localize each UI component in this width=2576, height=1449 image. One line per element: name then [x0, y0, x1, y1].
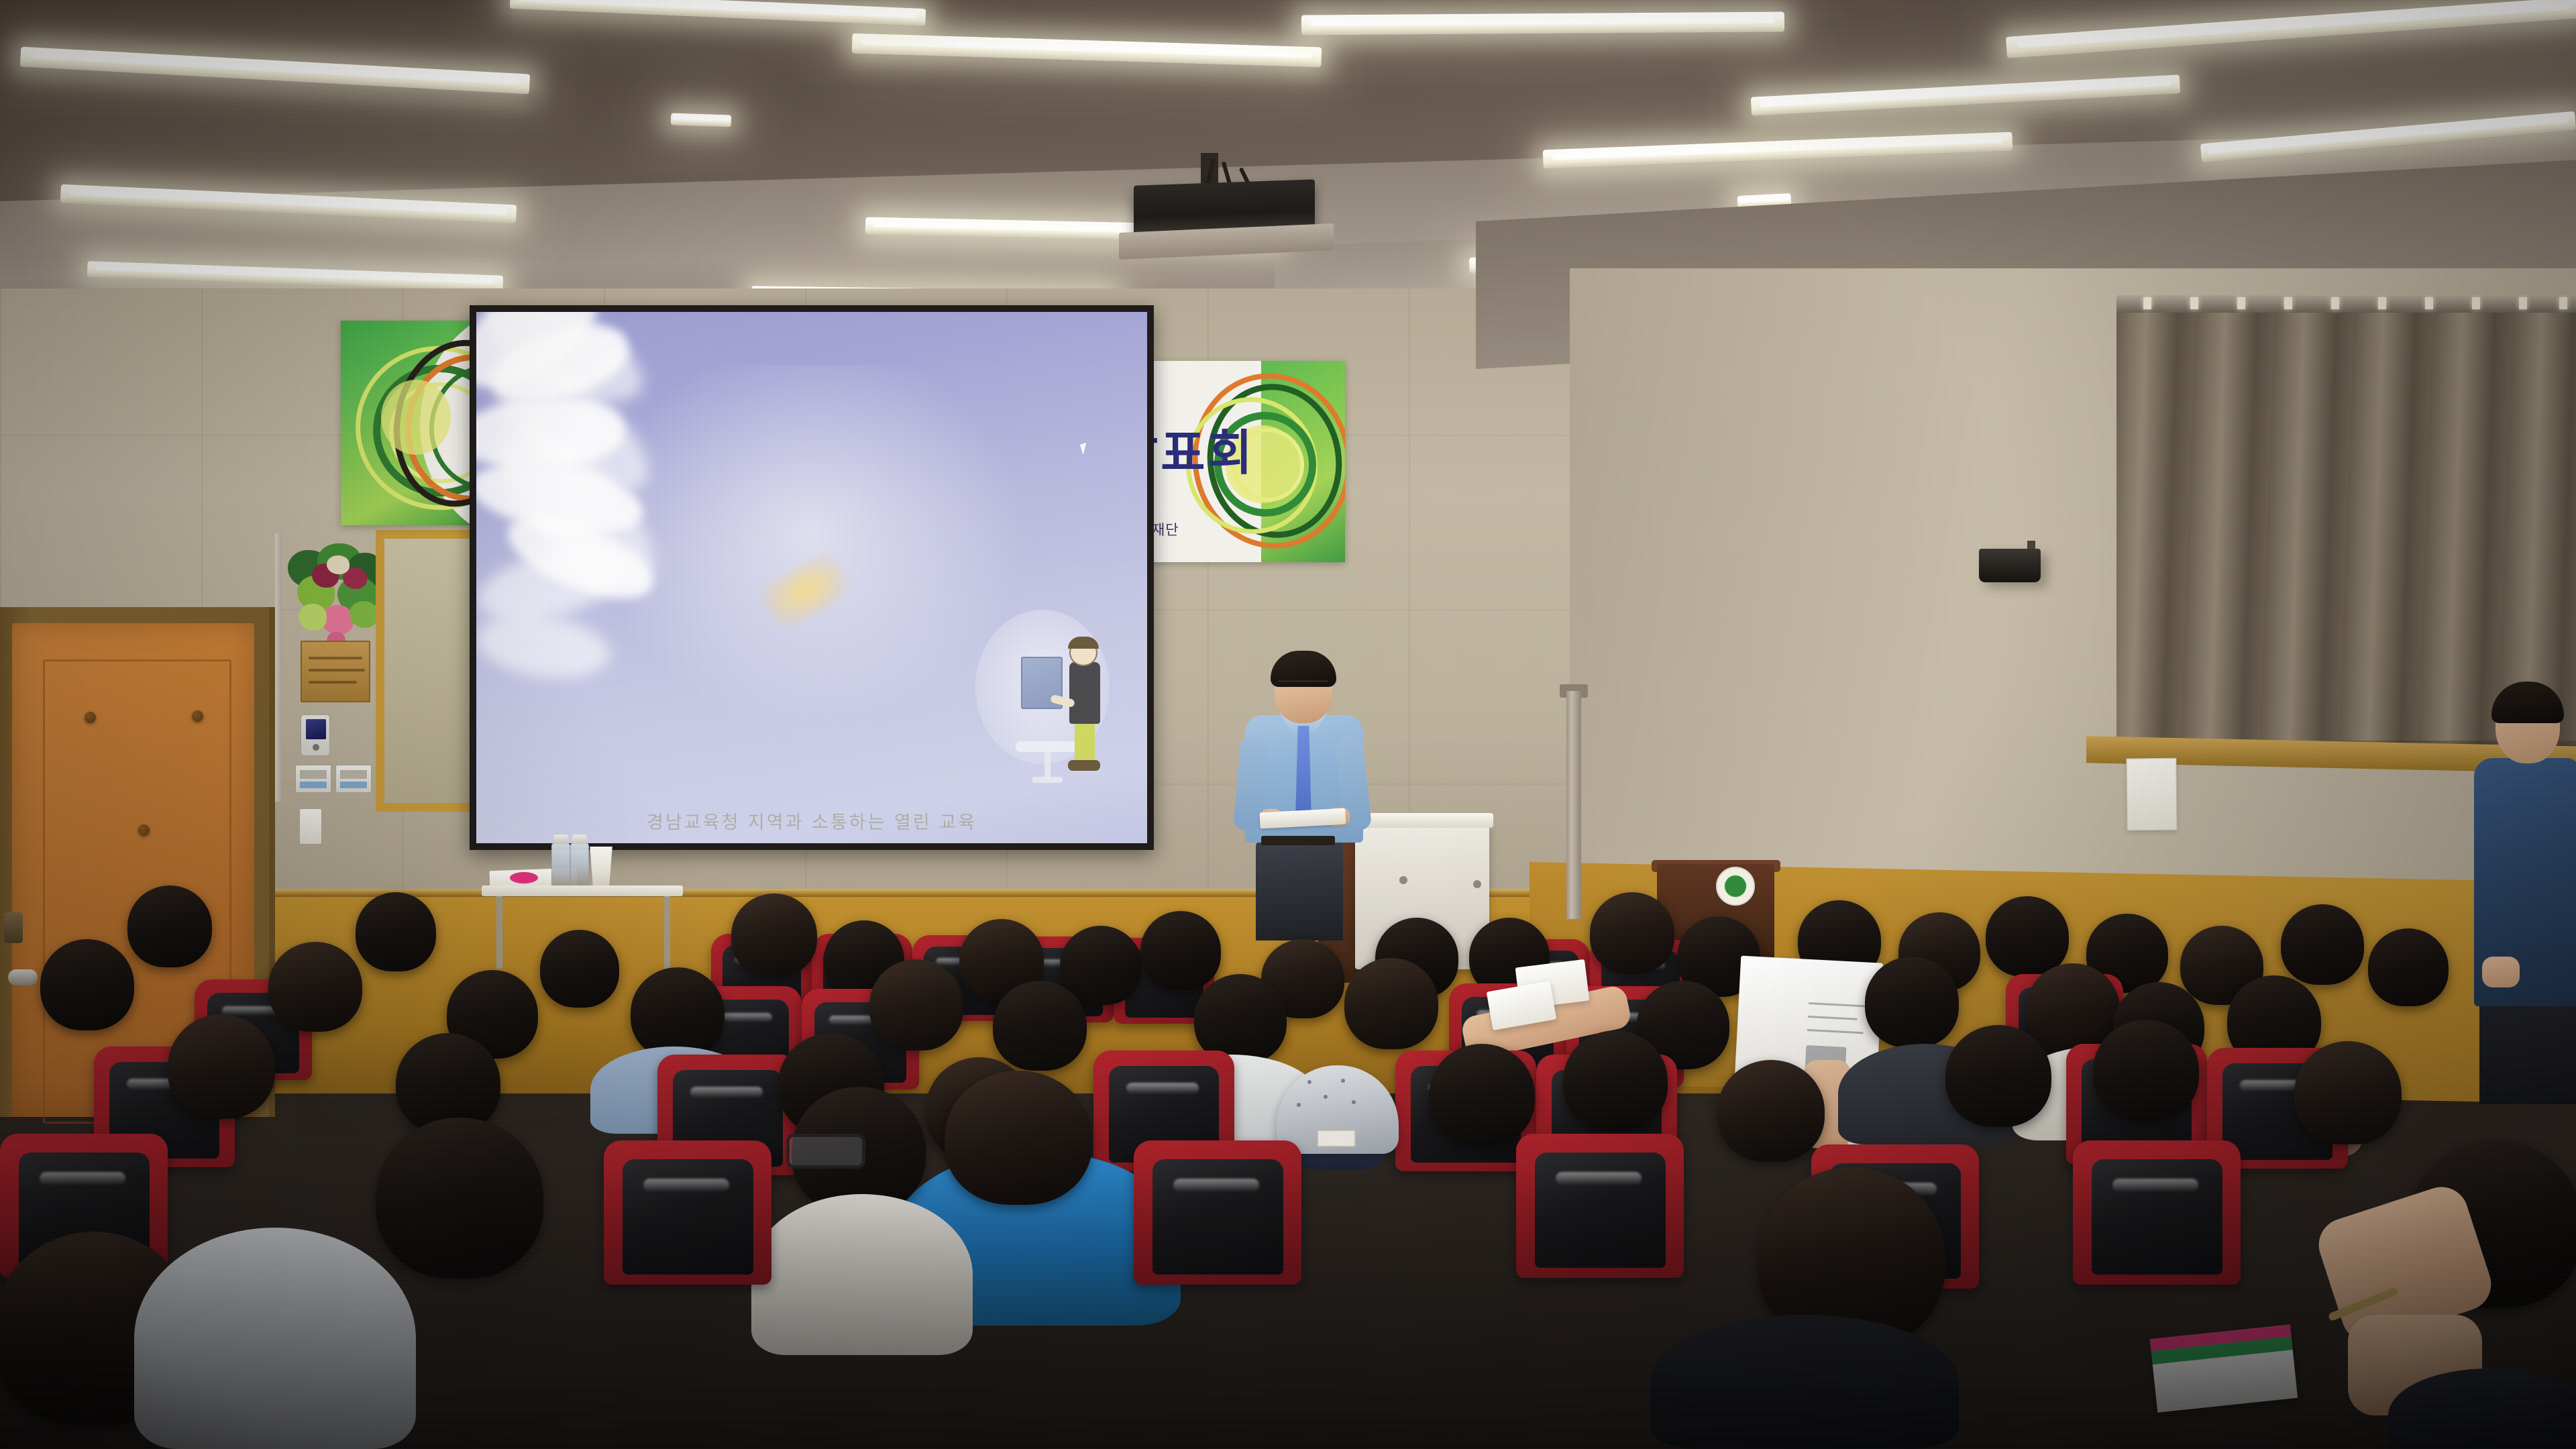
water-bottle-1 — [551, 843, 570, 891]
banner-left — [341, 321, 485, 525]
ceiling-light-16 — [671, 113, 732, 127]
av-knob[interactable] — [1399, 876, 1407, 884]
eyeglasses — [786, 1134, 865, 1169]
curtain-rod — [2116, 295, 2576, 313]
audience-head — [127, 885, 212, 967]
wall-pipe — [1566, 691, 1581, 919]
slide-caption: 경남교육청 지역과 소통하는 열린 교육 — [476, 808, 1147, 834]
toon-desk-leg — [1044, 749, 1051, 779]
wall-conduit — [275, 533, 282, 802]
audience-head — [540, 930, 619, 1008]
audience-head — [40, 939, 134, 1030]
foreground-head — [376, 1118, 543, 1279]
wall-speaker — [1979, 549, 2041, 582]
audience-head — [168, 1014, 275, 1119]
bottle-cap-1 — [553, 835, 568, 844]
foreground-shoulders — [134, 1228, 416, 1449]
light-switch-right[interactable] — [335, 765, 372, 793]
audience-head — [2093, 1020, 2199, 1122]
projection-screen: 경남교육청 지역과 소통하는 열린 교육 — [476, 312, 1147, 843]
flower-plaque — [301, 641, 370, 702]
standing-attendee-hair — [2491, 682, 2564, 723]
seat-row-d[interactable] — [1134, 1140, 1301, 1285]
reader-sensor — [313, 744, 319, 751]
toon-shoes — [1068, 760, 1100, 771]
presenter-belt — [1261, 836, 1335, 845]
toon-desk-foot — [1032, 777, 1063, 783]
audience-head — [2294, 1041, 2402, 1144]
audience-head — [1986, 896, 2069, 977]
ceiling-light-7 — [1301, 11, 1784, 35]
table-leg — [664, 895, 670, 969]
audience-head — [2368, 928, 2449, 1006]
toon-body — [1069, 662, 1100, 724]
table-leg — [496, 895, 502, 969]
audience-head — [268, 942, 362, 1032]
projection-screen-frame: 경남교육청 지역과 소통하는 열린 교육 — [470, 305, 1154, 850]
lectern-seal-emblem — [1716, 867, 1755, 906]
door-handle[interactable] — [8, 969, 38, 985]
document-stamp — [510, 872, 538, 883]
foreground-shoulders — [1650, 1315, 1959, 1449]
audience-head — [993, 981, 1087, 1071]
audience-head — [2281, 904, 2364, 985]
light-switch-left[interactable] — [295, 765, 331, 793]
audience-head — [1563, 1030, 1668, 1131]
card-access-reader[interactable] — [301, 714, 330, 756]
mouse-cursor — [1080, 443, 1089, 455]
auditorium-photo: 발표회 국연구재단 — [0, 0, 2576, 1449]
audience-head — [869, 959, 963, 1051]
audience-head — [1590, 892, 1674, 974]
av-knob[interactable] — [1473, 880, 1481, 888]
seat-row-d[interactable] — [604, 1140, 771, 1285]
side-table — [482, 885, 683, 896]
audience-head — [1865, 957, 1959, 1048]
toon-desk — [1016, 741, 1077, 752]
audience-head — [1140, 911, 1221, 990]
bottle-cap-2 — [572, 835, 587, 844]
audience-head — [356, 892, 436, 971]
notebook — [2150, 1324, 2298, 1412]
audience-head — [1344, 958, 1438, 1049]
presenter-glasses — [1279, 680, 1328, 690]
audience-shoulders — [751, 1194, 973, 1355]
door-lock[interactable] — [4, 912, 23, 943]
reader-screen — [306, 719, 326, 739]
seat-row-d[interactable] — [2073, 1140, 2241, 1285]
audience-head — [1717, 1060, 1825, 1162]
audience-head — [1945, 1025, 2051, 1127]
audience-head — [631, 967, 724, 1059]
toon-legs — [1075, 720, 1095, 764]
wall-outlet[interactable] — [299, 808, 322, 845]
water-bottle-2 — [570, 843, 589, 891]
blue-tshirt-head — [945, 1071, 1092, 1205]
audience-head — [1429, 1044, 1535, 1146]
audience-head — [731, 894, 817, 977]
seat-row-d[interactable] — [1516, 1134, 1684, 1278]
standing-attendee-hand — [2482, 957, 2520, 987]
presenter — [1233, 651, 1374, 939]
standing-attendee — [2473, 688, 2576, 1104]
wall-notice-paper — [2126, 758, 2177, 831]
cap-label — [1317, 1130, 1356, 1147]
presenter-trousers — [1256, 840, 1343, 941]
